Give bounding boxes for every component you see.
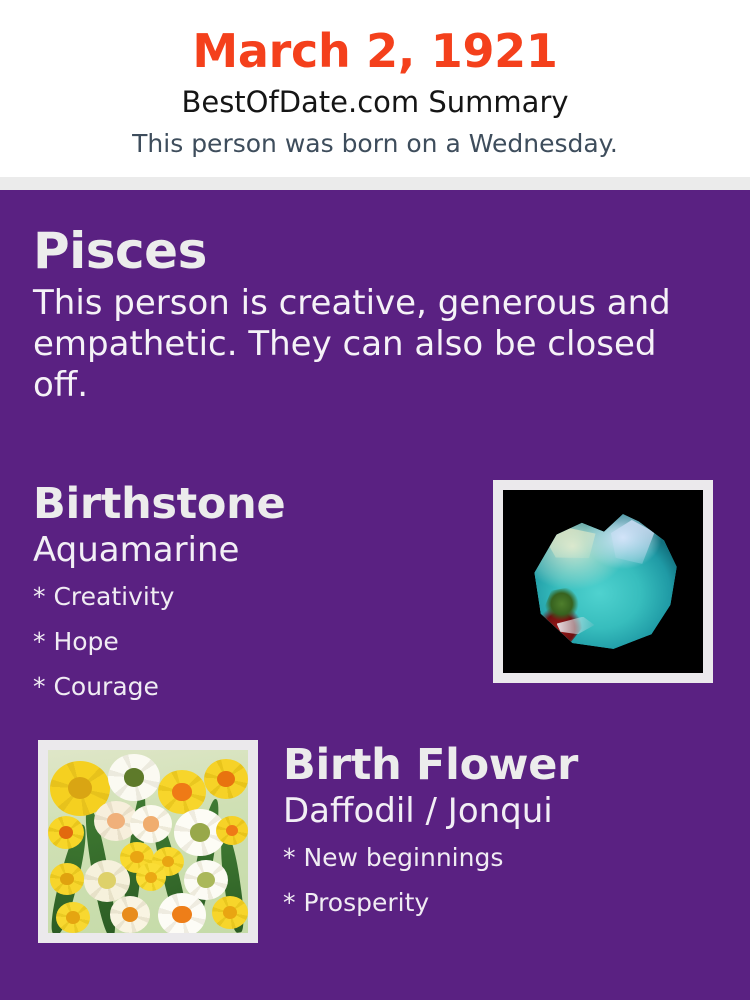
zodiac-description: This person is creative, generous and em…: [33, 283, 705, 406]
gem-facet-left-icon: [544, 526, 598, 561]
birthstone-image: [503, 490, 703, 673]
birthstone-image-frame: [493, 480, 713, 683]
gem-facet-top-icon: [607, 520, 654, 564]
birth-flower-heading: Birth Flower: [283, 740, 733, 790]
daffodil-bloom-icon: [84, 860, 130, 902]
zodiac-sign-name: Pisces: [33, 223, 713, 279]
daffodil-bloom-icon: [50, 863, 84, 894]
birth-flower-image-frame: [38, 740, 258, 943]
daffodil-bloom-icon: [110, 896, 150, 933]
summary-card: March 2, 1921 BestOfDate.com Summary Thi…: [0, 0, 750, 1000]
list-item: * New beginnings: [283, 835, 733, 880]
birthstone-name: Aquamarine: [33, 529, 473, 571]
list-item: * Courage: [33, 664, 473, 709]
zodiac-section: Pisces This person is creative, generous…: [33, 223, 713, 406]
list-item: * Hope: [33, 619, 473, 664]
daffodil-bloom-icon: [130, 805, 172, 843]
birthstone-section: Birthstone Aquamarine * Creativity * Hop…: [33, 479, 473, 709]
birth-flower-trait-list: * New beginnings * Prosperity: [283, 835, 733, 925]
daffodil-bloom-icon: [158, 770, 206, 814]
aquamarine-crystal-icon: [525, 508, 683, 654]
daffodil-bloom-icon: [56, 902, 90, 933]
header-divider: [0, 177, 750, 190]
page-title-date: March 2, 1921: [0, 22, 750, 80]
daffodil-bloom-icon: [108, 754, 160, 802]
site-name: BestOfDate.com Summary: [0, 84, 750, 120]
gem-inclusion-icon: [541, 587, 588, 643]
birth-flower-name: Daffodil / Jonqui: [283, 790, 733, 832]
daffodil-bloom-icon: [48, 816, 84, 849]
daffodil-bloom-icon: [216, 816, 248, 845]
birthstone-heading: Birthstone: [33, 479, 473, 529]
daffodil-bloom-icon: [204, 759, 248, 799]
daffodil-bloom-icon: [158, 893, 206, 933]
birthstone-trait-list: * Creativity * Hope * Courage: [33, 574, 473, 709]
card-header: March 2, 1921 BestOfDate.com Summary Thi…: [0, 0, 750, 177]
birth-flower-section: Birth Flower Daffodil / Jonqui * New beg…: [283, 740, 733, 925]
list-item: * Prosperity: [283, 880, 733, 925]
weekday-note: This person was born on a Wednesday.: [0, 128, 750, 160]
birth-flower-image: [48, 750, 248, 933]
list-item: * Creativity: [33, 574, 473, 619]
daffodil-bloom-icon: [136, 863, 166, 890]
